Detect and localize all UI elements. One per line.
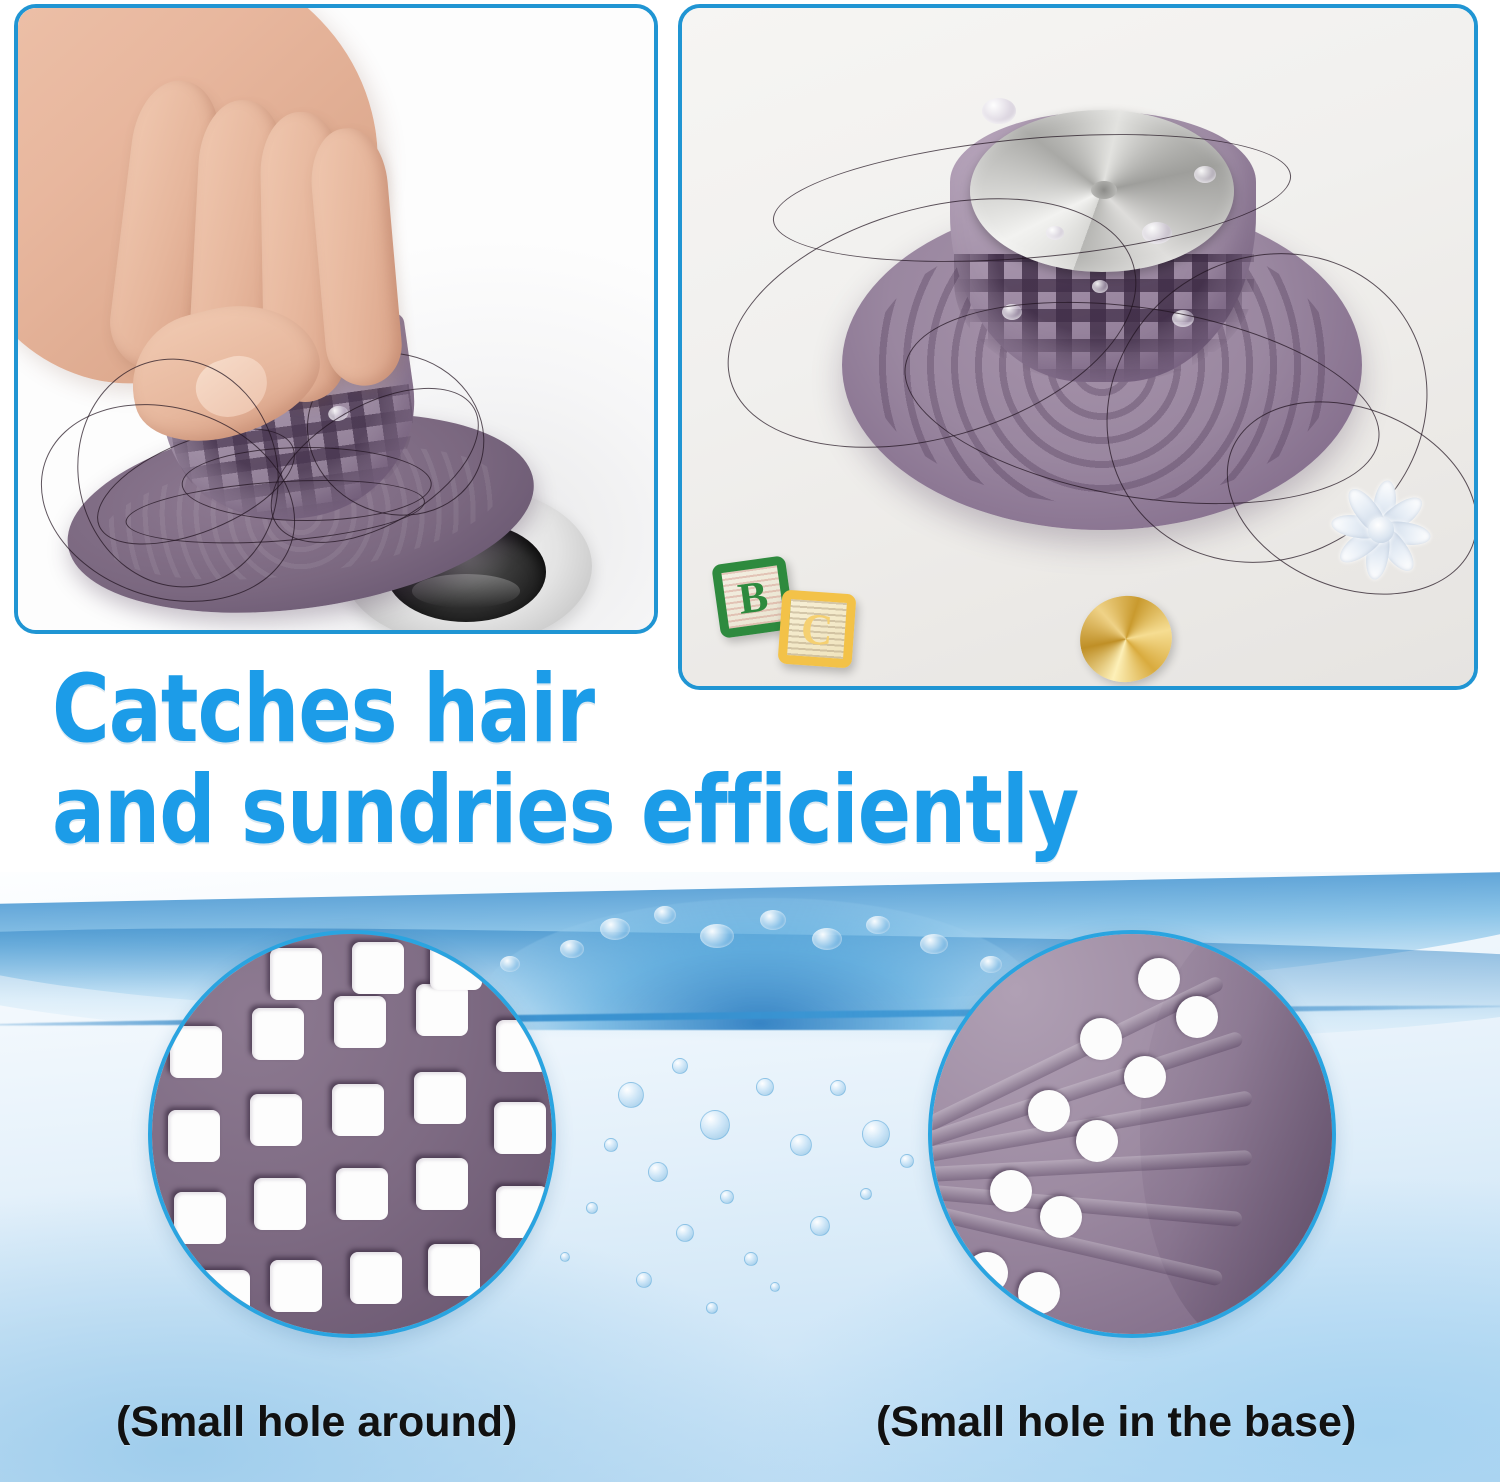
square-hole: [494, 1102, 546, 1154]
underwater-bubble: [756, 1078, 774, 1096]
foam-bubble: [600, 918, 630, 940]
foam-bubble: [700, 924, 734, 948]
square-hole: [170, 1026, 222, 1078]
square-hole: [332, 1084, 384, 1136]
square-hole: [168, 1110, 220, 1162]
water-droplet: [982, 98, 1016, 124]
round-hole: [1018, 1272, 1060, 1314]
underwater-bubble: [648, 1162, 668, 1182]
underwater-bubble: [636, 1272, 652, 1288]
square-hole: [430, 938, 482, 990]
round-hole: [1040, 1196, 1082, 1238]
square-hole: [270, 948, 322, 1000]
square-hole: [350, 1252, 402, 1304]
product-feature-graphic: B C Catches hair and sundries efficientl…: [0, 0, 1500, 1482]
square-hole-closeup: [148, 930, 556, 1338]
foam-bubble: [654, 906, 676, 924]
diamond-flower-brooch: [1315, 466, 1447, 593]
underwater-bubble: [700, 1110, 730, 1140]
caption-small-hole-around: (Small hole around): [116, 1398, 517, 1447]
square-hole: [270, 1260, 322, 1312]
underwater-bubble: [810, 1216, 830, 1236]
round-hole: [1138, 958, 1180, 1000]
toy-block-c: C: [778, 590, 857, 669]
round-hole: [1080, 1018, 1122, 1060]
underwater-bubble: [560, 1252, 570, 1262]
underwater-bubble: [676, 1224, 694, 1242]
caption-small-hole-in-base: (Small hole in the base): [876, 1398, 1356, 1447]
block-letter: B: [735, 570, 771, 625]
round-hole: [990, 1170, 1032, 1212]
square-hole: [254, 1178, 306, 1230]
right-photo-content: B C: [682, 8, 1474, 686]
underwater-bubble: [770, 1282, 780, 1292]
underwater-bubble: [790, 1134, 812, 1156]
square-hole: [352, 942, 404, 994]
underwater-bubble: [672, 1058, 688, 1074]
underwater-bubble: [830, 1080, 846, 1096]
left-photo-content: [18, 8, 654, 630]
square-hole: [428, 1244, 480, 1296]
foam-bubble: [560, 940, 584, 958]
strainer-with-debris-photo: B C: [678, 4, 1478, 690]
headline: Catches hair and sundries efficiently: [52, 660, 1168, 861]
underwater-bubble: [862, 1120, 890, 1148]
headline-line-2: and sundries efficiently: [52, 761, 1168, 862]
round-hole: [1176, 996, 1218, 1038]
square-hole: [336, 1168, 388, 1220]
round-hole: [1028, 1090, 1070, 1132]
hand-lifting-strainer-photo: [14, 4, 658, 634]
round-hole: [1076, 1120, 1118, 1162]
square-hole: [496, 1186, 548, 1238]
round-hole: [1124, 1056, 1166, 1098]
underwater-bubble: [900, 1154, 914, 1168]
block-letter: C: [799, 602, 834, 655]
underwater-bubble: [860, 1188, 872, 1200]
square-hole: [174, 1192, 226, 1244]
square-hole: [198, 1270, 250, 1322]
square-hole: [416, 984, 468, 1036]
underwater-bubble: [744, 1252, 758, 1266]
underwater-bubble: [604, 1138, 618, 1152]
foam-bubble: [866, 916, 890, 934]
headline-line-1: Catches hair: [52, 660, 1168, 761]
square-hole: [496, 1020, 548, 1072]
underwater-bubble: [706, 1302, 718, 1314]
underwater-bubble: [618, 1082, 644, 1108]
square-hole: [252, 1008, 304, 1060]
underwater-bubble: [586, 1202, 598, 1214]
foam-bubble: [760, 910, 786, 930]
square-hole: [250, 1094, 302, 1146]
round-hole: [966, 1252, 1008, 1294]
square-hole: [414, 1072, 466, 1124]
base-hole-closeup: [928, 930, 1336, 1338]
square-hole: [416, 1158, 468, 1210]
square-hole: [334, 996, 386, 1048]
foam-bubble: [812, 928, 842, 950]
underwater-bubble: [720, 1190, 734, 1204]
